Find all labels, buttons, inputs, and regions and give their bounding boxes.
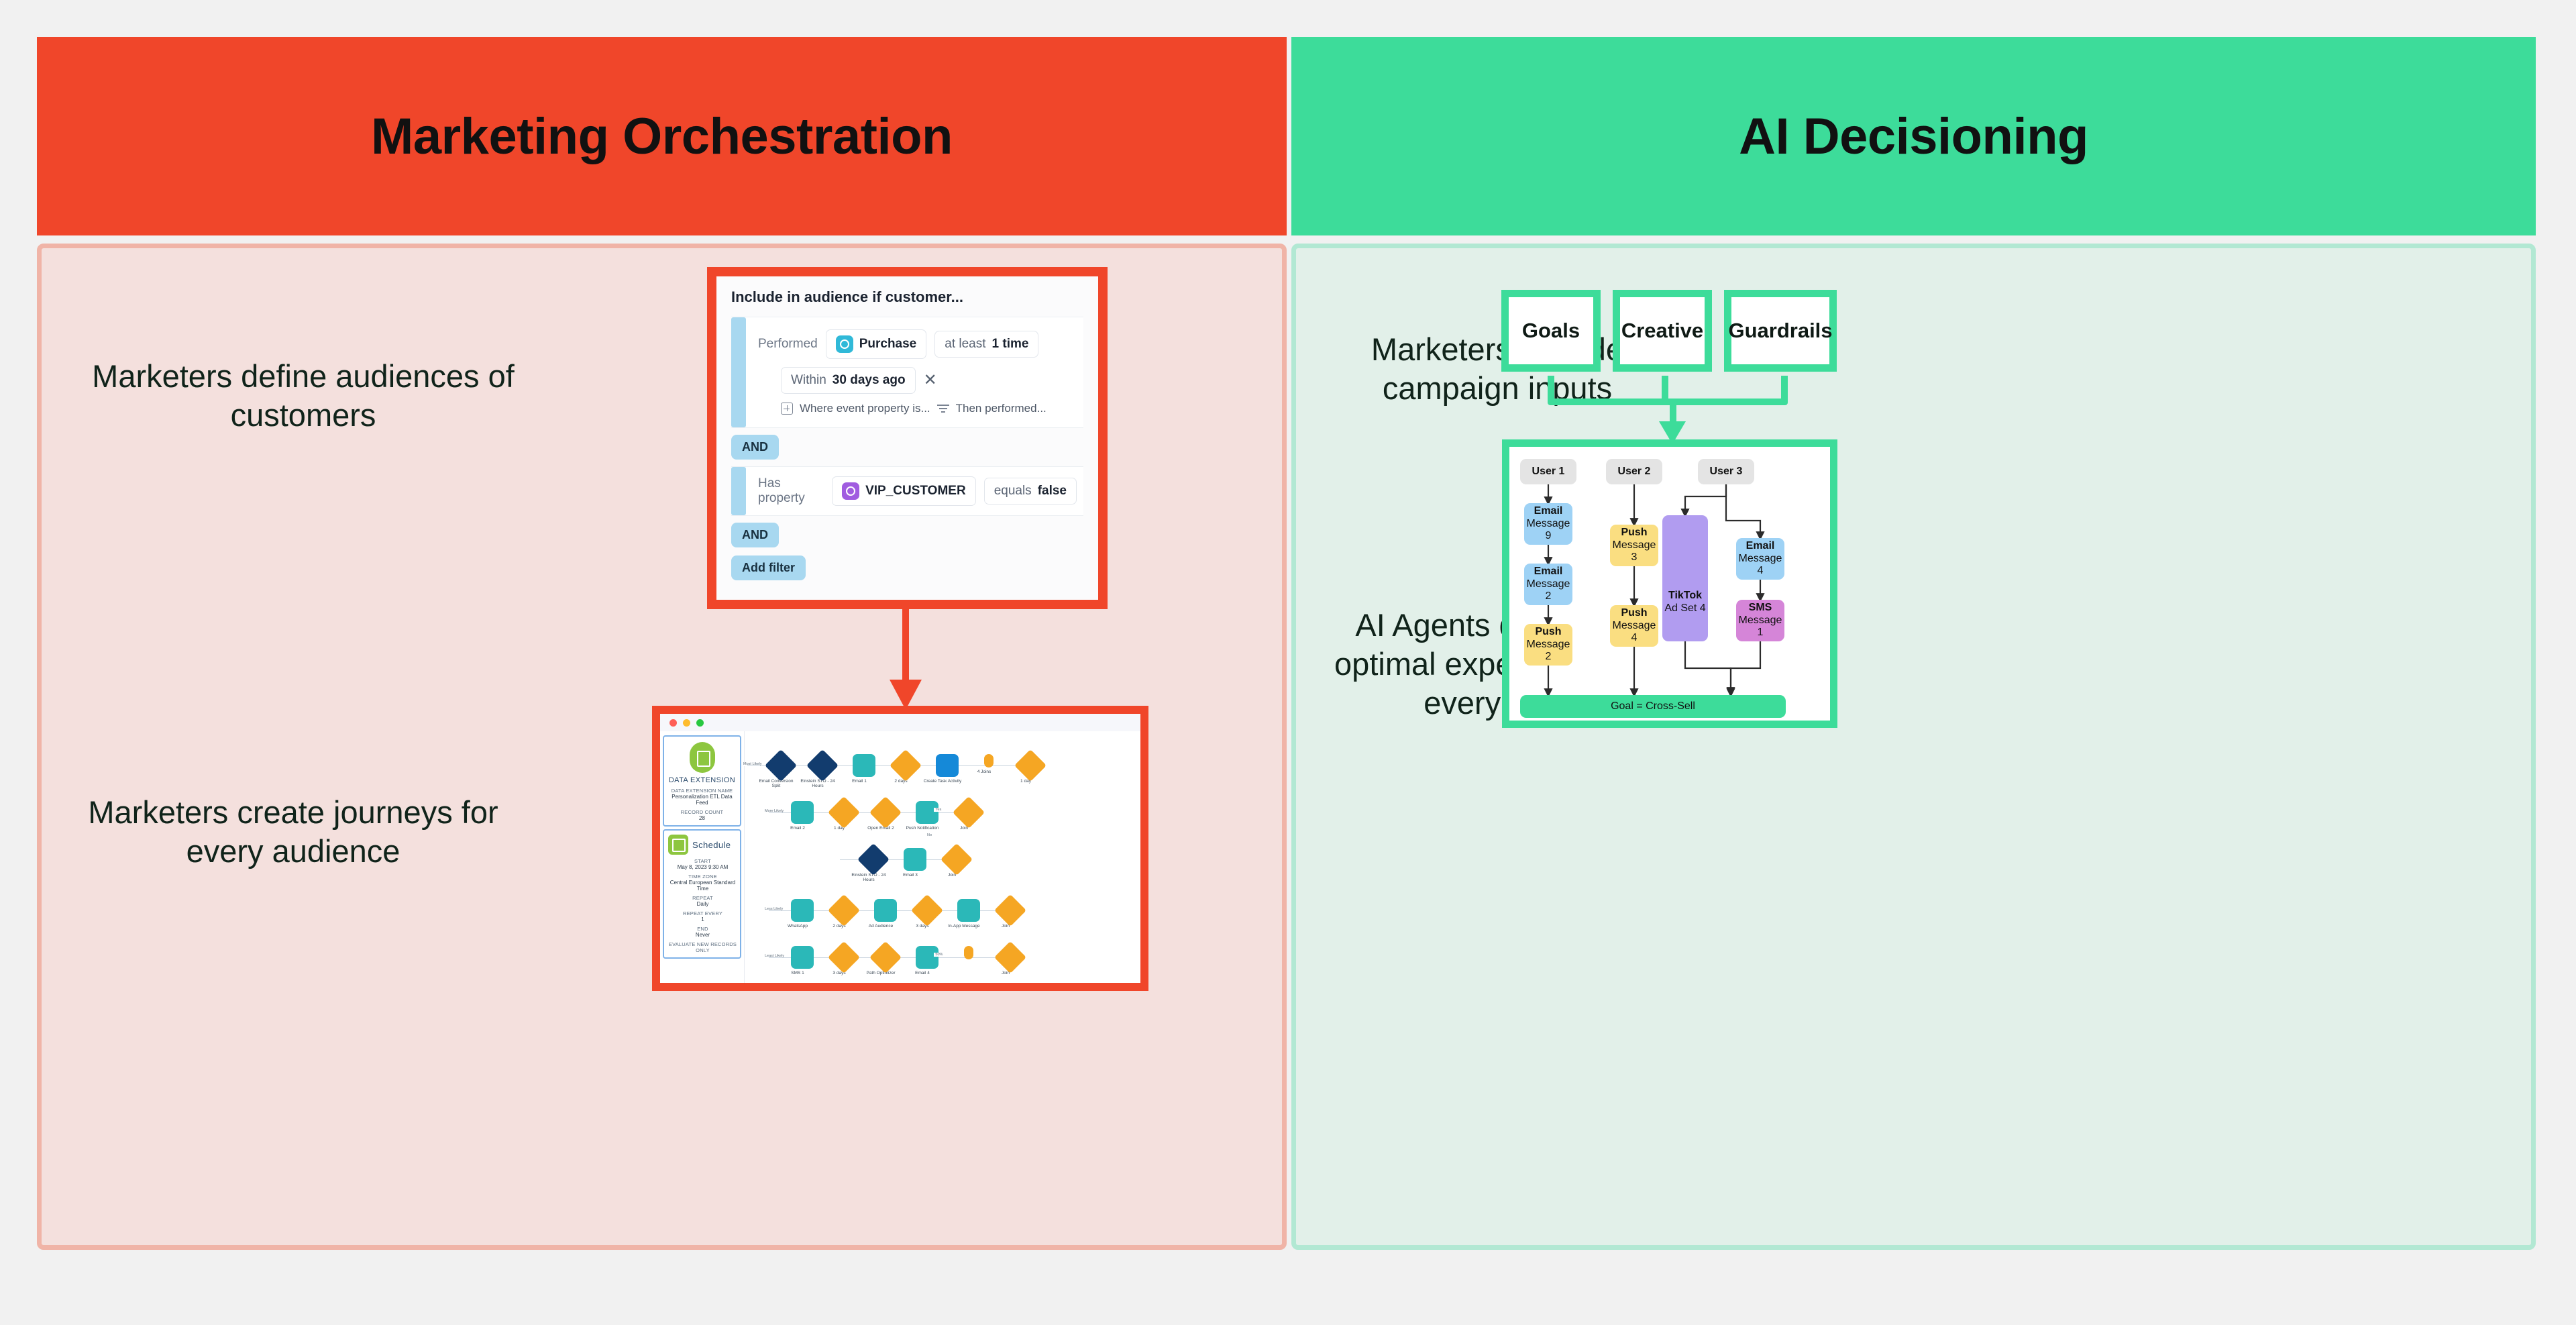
- flow-node-title: Push: [1621, 607, 1647, 620]
- schedule-field-3-label: REPEAT EVERY: [668, 910, 737, 916]
- audience-builder-title: Include in audience if customer...: [731, 288, 1083, 306]
- close-icon[interactable]: ✕: [924, 372, 937, 388]
- journey-node[interactable]: [953, 946, 985, 961]
- flow-node-subtitle: Message 1: [1736, 615, 1784, 640]
- column-ai-decisioning: AI Decisioning Marketers provide campaig…: [1291, 37, 2536, 1250]
- left-caption-bottom: Marketers create journeys for every audi…: [58, 793, 528, 871]
- audience-connector-2[interactable]: AND: [731, 523, 779, 547]
- flow-node-subtitle: Message 9: [1524, 518, 1572, 543]
- journey-node-label: In-App Message: [943, 924, 985, 929]
- schedule-field-0-label: START: [668, 858, 737, 864]
- journey-node-label: Einstein STO - 24 Hours: [848, 873, 890, 883]
- input-box-goals-label: Goals: [1522, 319, 1580, 343]
- flow-node-subtitle: Ad Set 4: [1664, 602, 1705, 615]
- journey-node-icon: [890, 749, 922, 782]
- journey-edge-label: Yes: [934, 808, 943, 812]
- flow-goal-label: Goal = Cross-Sell: [1611, 700, 1695, 713]
- journey-node[interactable]: Email 2: [786, 801, 818, 831]
- orchestration-flow-arrow: [890, 609, 922, 710]
- rule-2-property-label: VIP_CUSTOMER: [865, 484, 966, 498]
- flow-node-title: Push: [1621, 527, 1647, 539]
- flow-node-email-message-9[interactable]: Email Message 9: [1524, 503, 1572, 545]
- journey-node[interactable]: Create Task Activity: [931, 754, 963, 784]
- input-box-guardrails-label: Guardrails: [1728, 319, 1832, 343]
- journey-node-icon: [953, 796, 985, 829]
- arrow-stem: [902, 609, 909, 688]
- journey-node[interactable]: In-App Message: [953, 899, 985, 929]
- journey-node-label: Email 4: [902, 971, 943, 975]
- flow-node-user-2[interactable]: User 2: [1606, 459, 1662, 484]
- rule-1-subaction-1-label[interactable]: Then performed...: [956, 402, 1046, 415]
- journey-node[interactable]: 1 day: [828, 801, 860, 831]
- join-stem-goals: [1548, 376, 1554, 401]
- journey-node[interactable]: 2 days: [828, 899, 860, 929]
- journey-node[interactable]: SMS 1: [786, 946, 818, 975]
- journey-edge-label: No: [926, 833, 933, 837]
- rule-1-window: Within 30 days ago ✕: [758, 367, 1077, 394]
- flow-node-title: User 2: [1618, 466, 1651, 478]
- journey-node-icon: [874, 899, 897, 922]
- rule-1-event-chip[interactable]: Purchase: [826, 329, 927, 359]
- journey-node[interactable]: Email 1: [848, 754, 880, 784]
- flow-node-subtitle: Message 2: [1524, 639, 1572, 664]
- join-stem-creative: [1662, 376, 1668, 401]
- left-column-body: Marketers define audiences of customers …: [37, 244, 1287, 1250]
- journey-node-icon: [869, 796, 902, 829]
- journey-node-icon: [957, 899, 980, 922]
- journey-node[interactable]: Path Optimizer: [869, 946, 902, 975]
- journey-node-label: Email 1: [839, 779, 880, 784]
- rule-2-primary: Has property VIP_CUSTOMER equals false: [758, 476, 1077, 506]
- journey-node-icon: [916, 801, 938, 824]
- campaign-inputs-row: Goals Creative Guardrails: [1501, 290, 1837, 372]
- journey-node-icon: [916, 946, 938, 969]
- journey-canvas[interactable]: Most LikelyEmail Conversion SplitEinstei…: [745, 731, 1140, 983]
- journey-node[interactable]: Join: [953, 801, 985, 831]
- rule-1-window-prefix: Within: [791, 373, 826, 388]
- journey-node-label: 2 days: [880, 779, 922, 784]
- flow-node-push-message-3[interactable]: Push Message 3: [1610, 525, 1658, 566]
- schedule-field-4-value: Never: [668, 932, 737, 938]
- flow-node-title: Push: [1535, 626, 1561, 639]
- clock-icon: [836, 335, 853, 353]
- rule-2-property-chip[interactable]: VIP_CUSTOMER: [832, 476, 976, 506]
- rule-1-subactions: Where event property is... Then performe…: [758, 402, 1077, 415]
- schedule-field-2-label: REPEAT: [668, 895, 737, 901]
- page-root: Marketing Orchestration Marketers define…: [0, 0, 2576, 1325]
- journey-node-label: SMS 1: [777, 971, 818, 975]
- close-dot-icon[interactable]: [669, 719, 677, 727]
- schedule-card[interactable]: Schedule START May 8, 2023 9:30 AM TIME …: [663, 829, 741, 959]
- journey-node[interactable]: Email 4: [911, 946, 943, 975]
- schedule-field-4-label: END: [668, 926, 737, 932]
- journey-node[interactable]: Open Email 2: [869, 801, 902, 831]
- input-box-goals[interactable]: Goals: [1501, 290, 1601, 372]
- journey-node-icon: [936, 754, 959, 777]
- add-filter-button[interactable]: Add filter: [731, 555, 806, 580]
- journey-node[interactable]: WhatsApp: [786, 899, 818, 929]
- journey-sidebar: DATA EXTENSION DATA EXTENSION NAME Perso…: [660, 731, 745, 983]
- record-count-value: 28: [667, 815, 737, 821]
- journey-node[interactable]: 4 Joins: [973, 754, 1005, 774]
- journey-node[interactable]: Einstein STO - 24 Hours: [857, 848, 890, 883]
- flow-node-title: SMS: [1749, 602, 1772, 615]
- journey-window-body: DATA EXTENSION DATA EXTENSION NAME Perso…: [660, 731, 1140, 983]
- journey-node-icon: [964, 946, 973, 959]
- flow-node-title: TikTok: [1668, 590, 1702, 602]
- journey-node-label: Email 3: [890, 873, 931, 878]
- flow-node-push-message-2[interactable]: Push Message 2: [1524, 624, 1572, 666]
- ai-decisioning-flow-panel: User 1 User 2 User 3 Email Message 9 Ema…: [1502, 439, 1837, 728]
- minimize-dot-icon[interactable]: [683, 719, 690, 727]
- input-box-creative-label: Creative: [1621, 319, 1703, 343]
- flow-node-subtitle: Message 3: [1610, 539, 1658, 565]
- left-caption-bottom-wrap: Marketers create journeys for every audi…: [58, 758, 528, 906]
- rule-1-frequency-chip[interactable]: at least 1 time: [934, 331, 1038, 358]
- flow-node-user-3[interactable]: User 3: [1698, 459, 1754, 484]
- journey-node-label: Join: [985, 924, 1026, 929]
- flow-node-email-message-4[interactable]: Email Message 4: [1736, 538, 1784, 580]
- journey-node-label: 3 days: [902, 924, 943, 929]
- flow-node-title: Email: [1534, 505, 1563, 518]
- journey-node-label: Push Notification: [902, 826, 943, 831]
- audience-builder-screenshot: Include in audience if customer... Perfo…: [707, 267, 1108, 609]
- flow-node-title: User 3: [1710, 466, 1743, 478]
- rule-1-subaction-0-label[interactable]: Where event property is...: [800, 402, 930, 415]
- rule-2-operator-chip[interactable]: equals false: [984, 478, 1077, 505]
- data-extension-name-label: DATA EXTENSION NAME: [667, 788, 737, 794]
- rule-1-window-chip[interactable]: Within 30 days ago: [781, 367, 916, 394]
- flow-node-user-1[interactable]: User 1: [1520, 459, 1576, 484]
- journey-node-icon: [791, 801, 814, 824]
- left-column-header: Marketing Orchestration: [37, 37, 1287, 235]
- list-icon: [690, 742, 715, 773]
- schedule-field-1-label: TIME ZONE: [668, 873, 737, 880]
- journey-node-label: Join: [931, 873, 973, 878]
- journey-node-label: Email 2: [777, 826, 818, 831]
- audience-rule-2: Has property VIP_CUSTOMER equals false: [731, 466, 1083, 516]
- journey-node[interactable]: 3 days: [828, 946, 860, 975]
- schedule-field-1-value: Central European Standard Time: [668, 880, 737, 892]
- journey-node[interactable]: Join: [994, 946, 1026, 975]
- left-caption-top-wrap: Marketers define audiences of customers: [68, 322, 538, 470]
- journey-node[interactable]: Join: [994, 899, 1026, 929]
- journey-builder-screenshot: DATA EXTENSION DATA EXTENSION NAME Perso…: [652, 706, 1148, 991]
- right-column-title: AI Decisioning: [1739, 107, 2088, 166]
- flow-node-sms-message-1[interactable]: SMS Message 1: [1736, 600, 1784, 641]
- rule-2-operator-prefix: equals: [994, 484, 1032, 498]
- journey-node-icon: [828, 796, 860, 829]
- plus-square-icon: [781, 403, 793, 415]
- journey-node[interactable]: Join: [941, 848, 973, 878]
- inputs-to-flow-arrow: [1659, 399, 1686, 444]
- journey-node-icon: [806, 749, 839, 782]
- journey-node-label: Einstein STO - 24 Hours: [797, 779, 839, 789]
- audience-rule-1: Performed Purchase at least 1 time: [731, 317, 1083, 428]
- journey-node[interactable]: 3 days: [911, 899, 943, 929]
- rule-1-primary: Performed Purchase at least 1 time: [758, 329, 1077, 359]
- journey-node-label: 3 days: [818, 971, 860, 975]
- journey-node-icon: [828, 941, 860, 973]
- journey-node[interactable]: 1 day: [1014, 754, 1046, 784]
- rule-1-event-label: Purchase: [859, 337, 917, 352]
- journey-node-icon: [994, 941, 1026, 973]
- schedule-field-5-label: EVALUATE NEW RECORDS ONLY: [668, 941, 737, 953]
- journey-node-icon: [791, 899, 814, 922]
- journey-node-icon: [904, 848, 926, 871]
- journey-node-icon: [791, 946, 814, 969]
- calendar-icon: [668, 835, 688, 855]
- journey-node-icon: [853, 754, 875, 777]
- journey-node-label: Email Conversion Split: [755, 779, 797, 789]
- journey-node[interactable]: Email 3: [899, 848, 931, 878]
- journey-node-label: Ad Audience: [860, 924, 902, 929]
- column-marketing-orchestration: Marketing Orchestration Marketers define…: [37, 37, 1287, 1250]
- journey-node[interactable]: Push Notification: [911, 801, 943, 831]
- journey-node-icon: [994, 894, 1026, 926]
- maximize-dot-icon[interactable]: [696, 719, 704, 727]
- schedule-field-0-value: May 8, 2023 9:30 AM: [668, 864, 737, 870]
- journey-node-label: 1 day: [818, 826, 860, 831]
- data-extension-card[interactable]: DATA EXTENSION DATA EXTENSION NAME Perso…: [663, 735, 741, 827]
- input-box-guardrails[interactable]: Guardrails: [1724, 290, 1837, 372]
- journey-node-icon: [911, 894, 943, 926]
- flow-node-title: Email: [1534, 566, 1563, 578]
- flow-node-subtitle: Message 2: [1524, 578, 1572, 604]
- audience-connector-1[interactable]: AND: [731, 435, 779, 460]
- left-column-title: Marketing Orchestration: [371, 107, 953, 166]
- record-count-label: RECORD COUNT: [667, 809, 737, 815]
- journey-node[interactable]: 2 days: [890, 754, 922, 784]
- tag-icon: [842, 482, 859, 500]
- journey-node-label: Open Email 2: [860, 826, 902, 831]
- journey-edge-label: 50%: [934, 953, 944, 957]
- flow-node-email-message-2[interactable]: Email Message 2: [1524, 564, 1572, 605]
- flow-node-title: Email: [1746, 540, 1775, 553]
- journey-node[interactable]: Email Conversion Split: [765, 754, 797, 789]
- data-extension-name-value: Personalization ETL Data Feed: [667, 794, 737, 806]
- journey-node-label: 2 days: [818, 924, 860, 929]
- journey-node-label: 1 day: [1005, 779, 1046, 784]
- join-stem-guardrails: [1781, 376, 1788, 401]
- flow-node-push-message-4[interactable]: Push Message 4: [1610, 605, 1658, 647]
- journey-node-label: Create Task Activity: [922, 779, 963, 784]
- schedule-title: Schedule: [692, 840, 731, 850]
- journey-node-label: Join: [943, 826, 985, 831]
- journey-node-label: 4 Joins: [963, 770, 1005, 774]
- journey-node-icon: [1014, 749, 1046, 782]
- journey-node-label: WhatsApp: [777, 924, 818, 929]
- flow-node-subtitle: Message 4: [1736, 553, 1784, 578]
- right-column-body: Marketers provide campaign inputs Goals …: [1291, 244, 2536, 1250]
- rule-1-label: Performed: [758, 337, 818, 352]
- journey-node[interactable]: Ad Audience: [869, 899, 902, 929]
- journey-node-icon: [828, 894, 860, 926]
- journey-node[interactable]: Einstein STO - 24 Hours: [806, 754, 839, 789]
- journey-node-icon: [765, 749, 797, 782]
- journey-node-icon: [984, 754, 994, 767]
- audience-builder-panel: Include in audience if customer... Perfo…: [716, 276, 1098, 600]
- rule-2-label: Has property: [758, 476, 824, 506]
- rule-1-window-value: 30 days ago: [833, 373, 906, 388]
- schedule-field-3-value: 1: [668, 916, 737, 922]
- left-caption-top: Marketers define audiences of customers: [68, 357, 538, 435]
- flow-node-tiktok-ad-set-4[interactable]: TikTok Ad Set 4: [1662, 515, 1708, 641]
- schedule-field-2-value: Daily: [668, 901, 737, 907]
- journey-window-titlebar: [660, 714, 1140, 731]
- input-box-creative[interactable]: Creative: [1613, 290, 1712, 372]
- right-column-header: AI Decisioning: [1291, 37, 2536, 235]
- journey-node-icon: [941, 843, 973, 876]
- journey-node-label: Join: [985, 971, 1026, 975]
- journey-node-icon: [857, 843, 890, 876]
- flow-node-goal[interactable]: Goal = Cross-Sell: [1520, 695, 1786, 718]
- rule-1-frequency-prefix: at least: [945, 337, 985, 352]
- journey-node-icon: [869, 941, 902, 973]
- journey-node-label: Path Optimizer: [860, 971, 902, 975]
- filter-icon: [937, 405, 949, 413]
- flow-node-title: User 1: [1532, 466, 1565, 478]
- data-extension-title: DATA EXTENSION: [667, 776, 737, 784]
- rule-1-frequency-value: 1 time: [992, 337, 1029, 352]
- flow-node-subtitle: Message 4: [1610, 620, 1658, 645]
- rule-2-operator-value: false: [1038, 484, 1067, 498]
